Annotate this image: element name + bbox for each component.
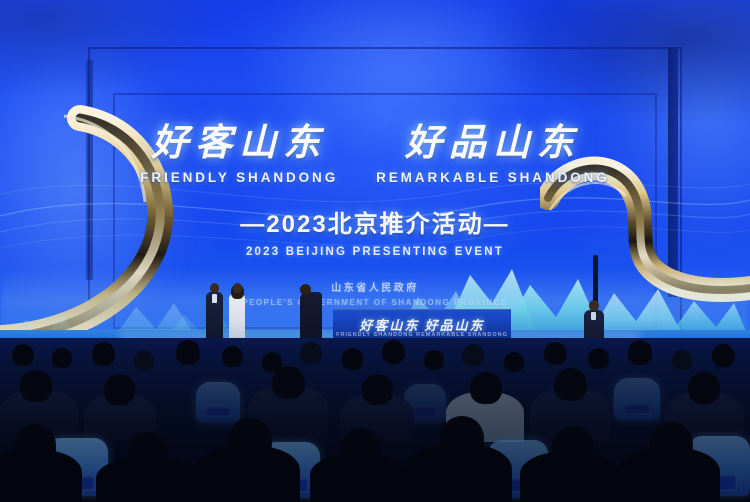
audience-head (462, 344, 484, 366)
male-host (206, 283, 223, 345)
audience-head (588, 348, 609, 369)
audience-head (12, 344, 34, 366)
female-host-head (233, 283, 242, 293)
standing-man-head (589, 300, 599, 311)
chair-placard (624, 404, 651, 415)
audience-head (382, 340, 405, 364)
audience-head (340, 428, 381, 469)
standing-man-shirt (591, 312, 596, 320)
set-post-left (86, 60, 93, 280)
audience-head (92, 342, 115, 366)
chair-placard (205, 407, 231, 417)
audience-head (544, 342, 567, 365)
audience-head (504, 352, 524, 372)
audience-head (554, 368, 587, 401)
audience-head (688, 372, 720, 404)
audience-head (176, 340, 200, 365)
male-host-head (210, 283, 219, 293)
podium-attendant-head (300, 284, 311, 295)
audience-head (52, 348, 72, 368)
audience-head (272, 366, 305, 399)
stage-event-photo: 好客山东 FRIENDLY SHANDONG 好品山东 REMARKABLE S… (0, 0, 750, 502)
audience-head (362, 374, 393, 405)
audience-head (222, 346, 243, 367)
podium-attendant (300, 284, 322, 346)
chair-placard (413, 407, 437, 417)
audience-head (300, 342, 322, 364)
audience-head (14, 424, 56, 466)
audience-head (342, 348, 363, 370)
set-frame-inner (113, 93, 657, 329)
audience-head (104, 374, 135, 405)
audience-head (440, 416, 484, 460)
audience-head (424, 350, 444, 370)
audience-head (128, 432, 168, 472)
audience-head (20, 370, 52, 402)
audience-head (712, 344, 735, 367)
audience-chair (614, 378, 660, 420)
female-host (228, 283, 246, 345)
audience-area (0, 338, 750, 502)
audience-head (228, 418, 272, 462)
audience-head (470, 372, 502, 404)
audience-head (672, 350, 692, 370)
audience-head (134, 350, 154, 370)
audience-head (650, 422, 693, 465)
male-host-shirt (212, 294, 217, 303)
audience-head (628, 340, 652, 365)
audience-chair (196, 382, 240, 422)
set-post-right (668, 47, 678, 297)
audience-head (552, 426, 594, 468)
